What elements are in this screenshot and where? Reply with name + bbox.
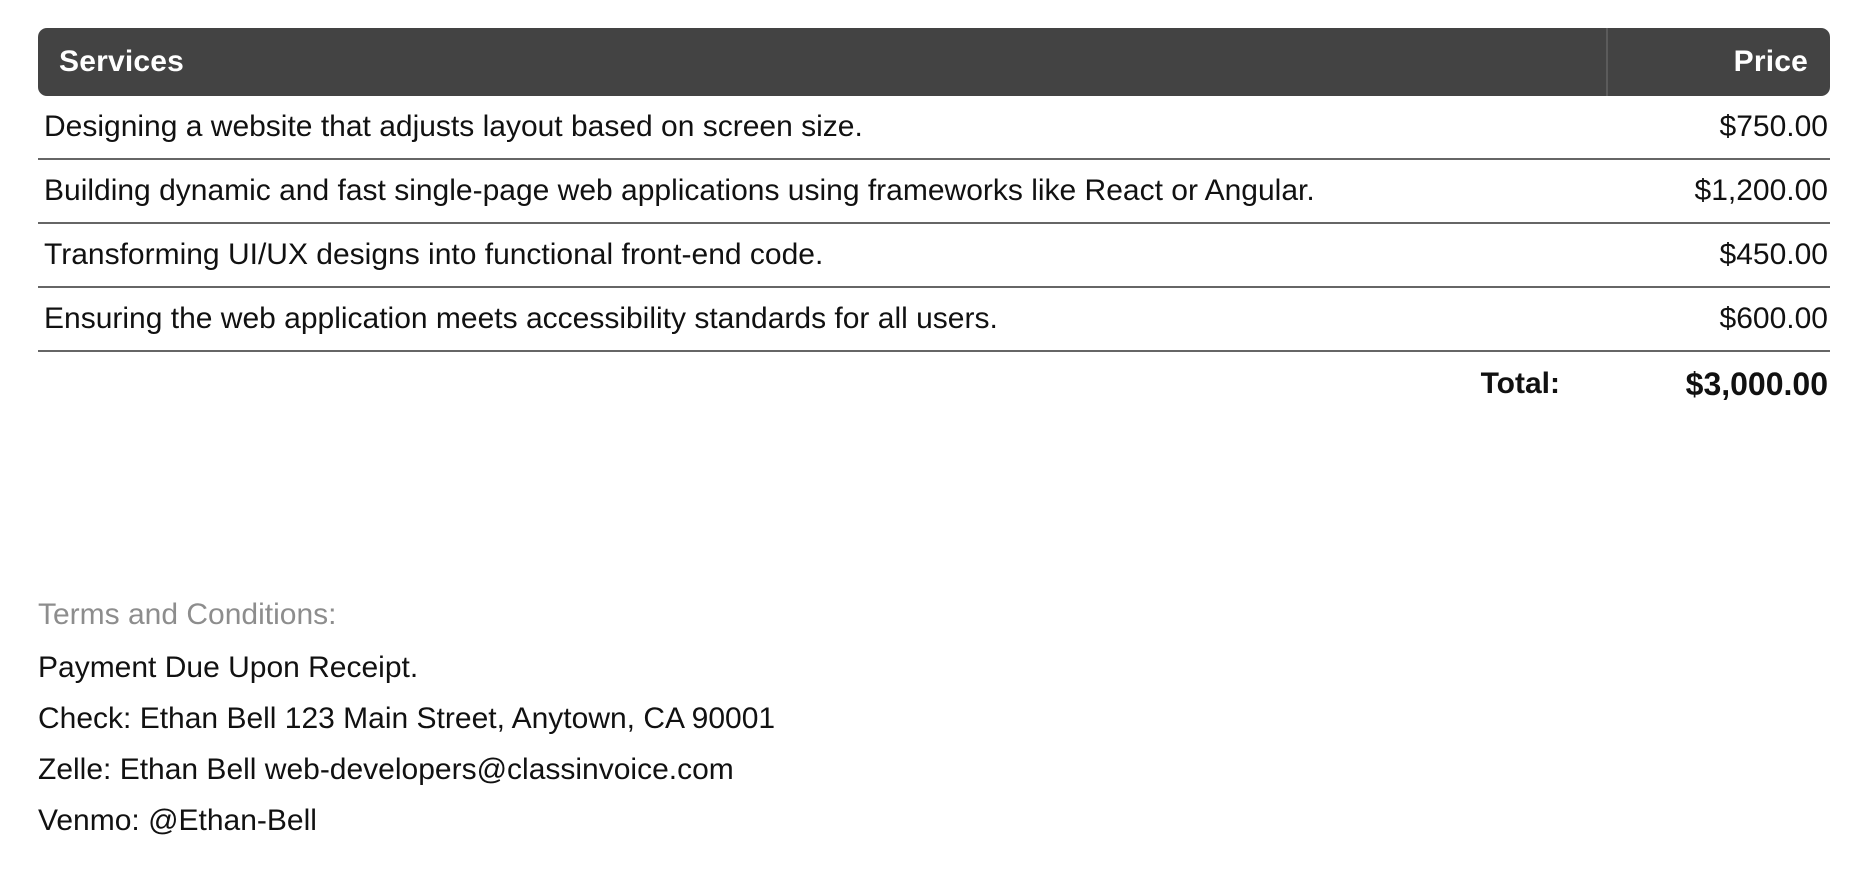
total-value: $3,000.00	[1606, 366, 1830, 403]
terms-line-zelle: Zelle: Ethan Bell web-developers@classin…	[38, 755, 1438, 785]
total-row: Total: $3,000.00	[38, 352, 1830, 416]
terms-line-venmo: Venmo: @Ethan-Bell	[38, 806, 1438, 836]
terms-line-check: Check: Ethan Bell 123 Main Street, Anyto…	[38, 704, 1438, 734]
service-price: $450.00	[1608, 227, 1830, 283]
service-description: Building dynamic and fast single-page we…	[38, 163, 1608, 219]
service-description: Transforming UI/UX designs into function…	[38, 227, 1608, 283]
service-price: $1,200.00	[1608, 163, 1830, 219]
terms-line-payment: Payment Due Upon Receipt.	[38, 653, 1438, 683]
column-header-services: Services	[38, 28, 1608, 96]
terms-title: Terms and Conditions:	[38, 598, 1438, 631]
invoice-page: Services Price Designing a website that …	[0, 0, 1868, 870]
table-row: Transforming UI/UX designs into function…	[38, 224, 1830, 288]
table-row: Designing a website that adjusts layout …	[38, 96, 1830, 160]
table-row: Building dynamic and fast single-page we…	[38, 160, 1830, 224]
service-price: $600.00	[1608, 291, 1830, 347]
services-table: Services Price Designing a website that …	[38, 28, 1830, 416]
table-row: Ensuring the web application meets acces…	[38, 288, 1830, 352]
column-header-price: Price	[1608, 28, 1830, 96]
total-label: Total:	[1481, 367, 1606, 401]
service-price: $750.00	[1608, 99, 1830, 155]
service-description: Designing a website that adjusts layout …	[38, 99, 1608, 155]
table-header-row: Services Price	[38, 28, 1830, 96]
terms-and-conditions-block: Terms and Conditions: Payment Due Upon R…	[38, 598, 1438, 836]
service-description: Ensuring the web application meets acces…	[38, 291, 1608, 347]
